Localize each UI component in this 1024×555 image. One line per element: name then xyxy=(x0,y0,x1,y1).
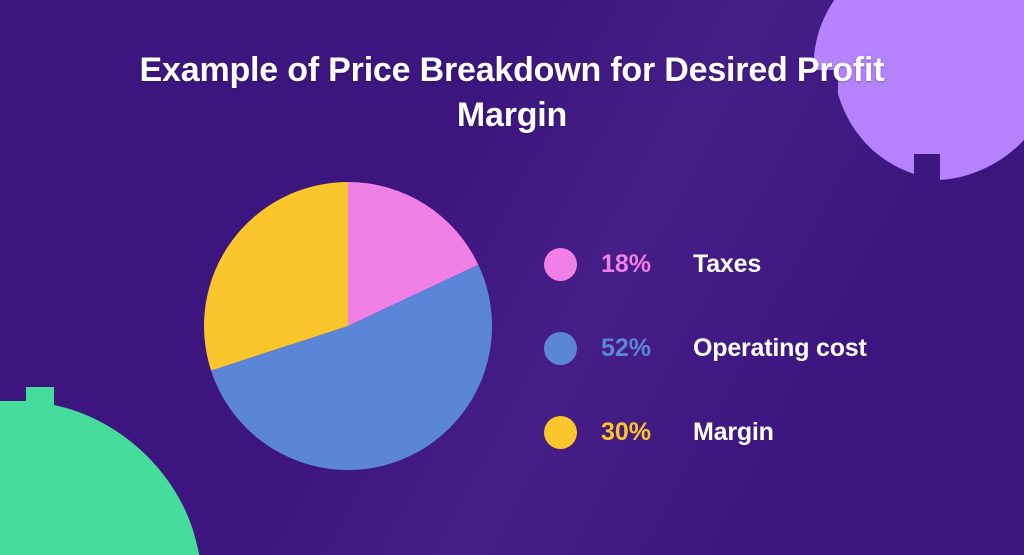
legend-swatch-margin xyxy=(544,416,577,449)
legend-label-operating-cost: Operating cost xyxy=(693,334,867,363)
chart-legend: 18% Taxes 52% Operating cost 30% Margin xyxy=(544,222,964,474)
legend-item-taxes[interactable]: 18% Taxes xyxy=(544,222,964,306)
pie-chart xyxy=(204,182,492,470)
chart-title: Example of Price Breakdown for Desired P… xyxy=(112,48,912,138)
pie-slices xyxy=(204,182,492,470)
legend-item-operating-cost[interactable]: 52% Operating cost xyxy=(544,306,964,390)
legend-percent-taxes: 18% xyxy=(601,250,693,279)
legend-label-taxes: Taxes xyxy=(693,250,761,279)
legend-percent-margin: 30% xyxy=(601,418,693,447)
green-blob-decoration xyxy=(0,383,214,555)
legend-swatch-operating-cost xyxy=(544,332,577,365)
legend-item-margin[interactable]: 30% Margin xyxy=(544,390,964,474)
infographic-canvas: Example of Price Breakdown for Desired P… xyxy=(0,0,1024,555)
legend-label-margin: Margin xyxy=(693,418,774,447)
legend-swatch-taxes xyxy=(544,248,577,281)
legend-percent-operating-cost: 52% xyxy=(601,334,693,363)
